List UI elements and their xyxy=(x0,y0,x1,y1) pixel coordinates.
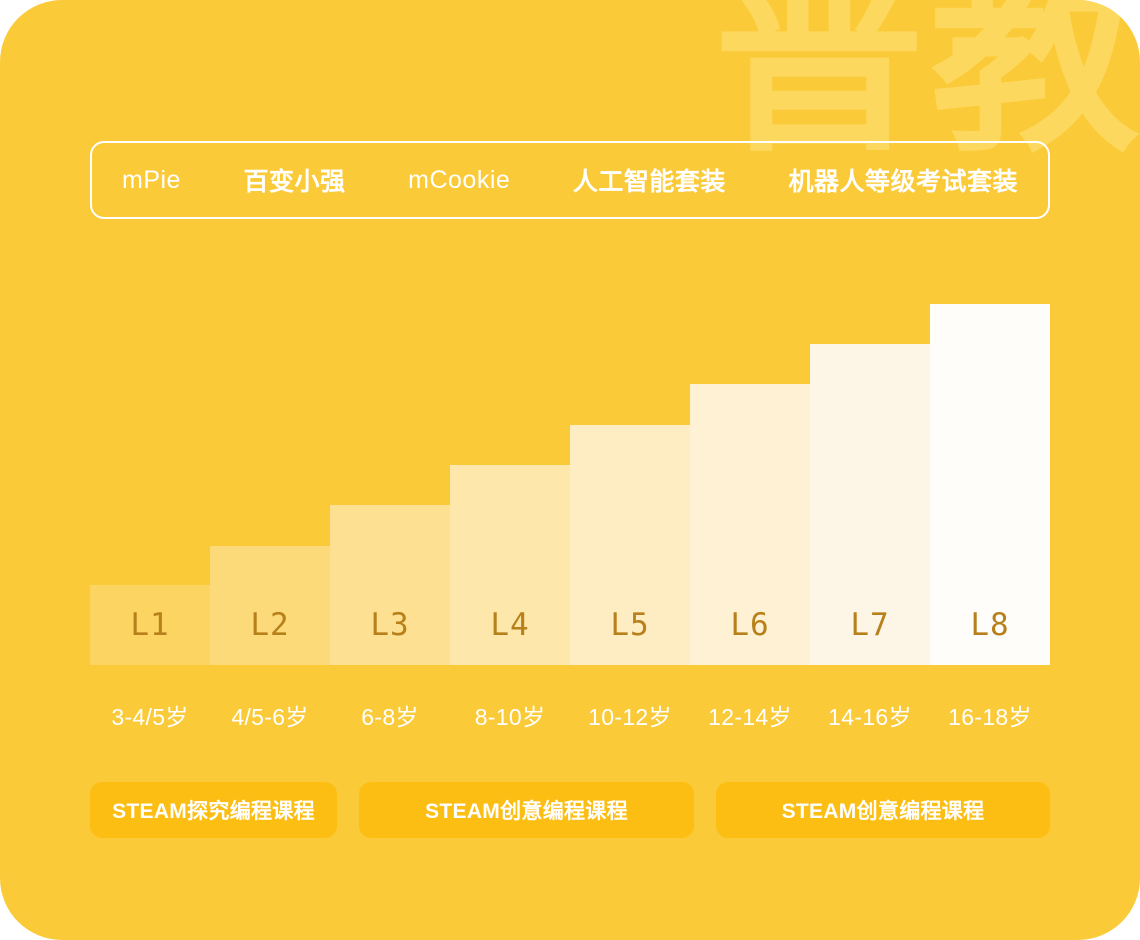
bar-l3: L3 xyxy=(330,505,450,665)
nav-item-mpie[interactable]: mPie xyxy=(122,166,181,195)
bar-label-l8: L8 xyxy=(970,607,1009,665)
age-label-l7: 14-16岁 xyxy=(810,698,930,732)
bar-label-l5: L5 xyxy=(610,607,649,665)
age-label-l6: 12-14岁 xyxy=(690,698,810,732)
nav-item-ai-kit[interactable]: 人工智能套装 xyxy=(573,162,726,198)
age-label-l1: 3-4/5岁 xyxy=(90,698,210,732)
course-track-list: STEAM探究编程课程 STEAM创意编程课程 STEAM创意编程课程 xyxy=(90,782,1050,838)
product-nav-bar: mPie 百变小强 mCookie 人工智能套装 机器人等级考试套装 xyxy=(90,141,1050,219)
age-range-axis: 3-4/5岁 4/5-6岁 6-8岁 8-10岁 10-12岁 12-14岁 1… xyxy=(90,698,1050,732)
bar-label-l2: L2 xyxy=(250,607,289,665)
age-label-l5: 10-12岁 xyxy=(570,698,690,732)
course-button-2[interactable]: STEAM创意编程课程 xyxy=(359,782,694,838)
bar-label-l1: L1 xyxy=(130,607,169,665)
level-bar-chart: L1 L2 L3 L4 L5 L6 L7 L8 xyxy=(90,295,1050,665)
bar-l8: L8 xyxy=(930,304,1050,665)
bar-label-l4: L4 xyxy=(490,607,529,665)
course-button-1[interactable]: STEAM探究编程课程 xyxy=(90,782,337,838)
nav-item-robot-exam-kit[interactable]: 机器人等级考试套装 xyxy=(788,162,1018,198)
product-level-card: 普教 mPie 百变小强 mCookie 人工智能套装 机器人等级考试套装 L1… xyxy=(0,0,1140,940)
bar-l1: L1 xyxy=(90,585,210,665)
bar-l5: L5 xyxy=(570,425,690,665)
bar-l7: L7 xyxy=(810,344,930,665)
age-label-l8: 16-18岁 xyxy=(930,698,1050,732)
age-label-l4: 8-10岁 xyxy=(450,698,570,732)
age-label-l3: 6-8岁 xyxy=(330,698,450,732)
watermark-text: 普教 xyxy=(714,0,1140,164)
bar-label-l6: L6 xyxy=(730,607,769,665)
nav-item-mcookie[interactable]: mCookie xyxy=(408,166,510,195)
course-button-3[interactable]: STEAM创意编程课程 xyxy=(716,782,1050,838)
bar-label-l3: L3 xyxy=(370,607,409,665)
bar-l6: L6 xyxy=(690,384,810,665)
nav-item-baibianxiaoqiang[interactable]: 百变小强 xyxy=(244,162,346,198)
bar-l4: L4 xyxy=(450,465,570,665)
bar-l2: L2 xyxy=(210,546,330,665)
age-label-l2: 4/5-6岁 xyxy=(210,698,330,732)
bar-label-l7: L7 xyxy=(850,607,889,665)
